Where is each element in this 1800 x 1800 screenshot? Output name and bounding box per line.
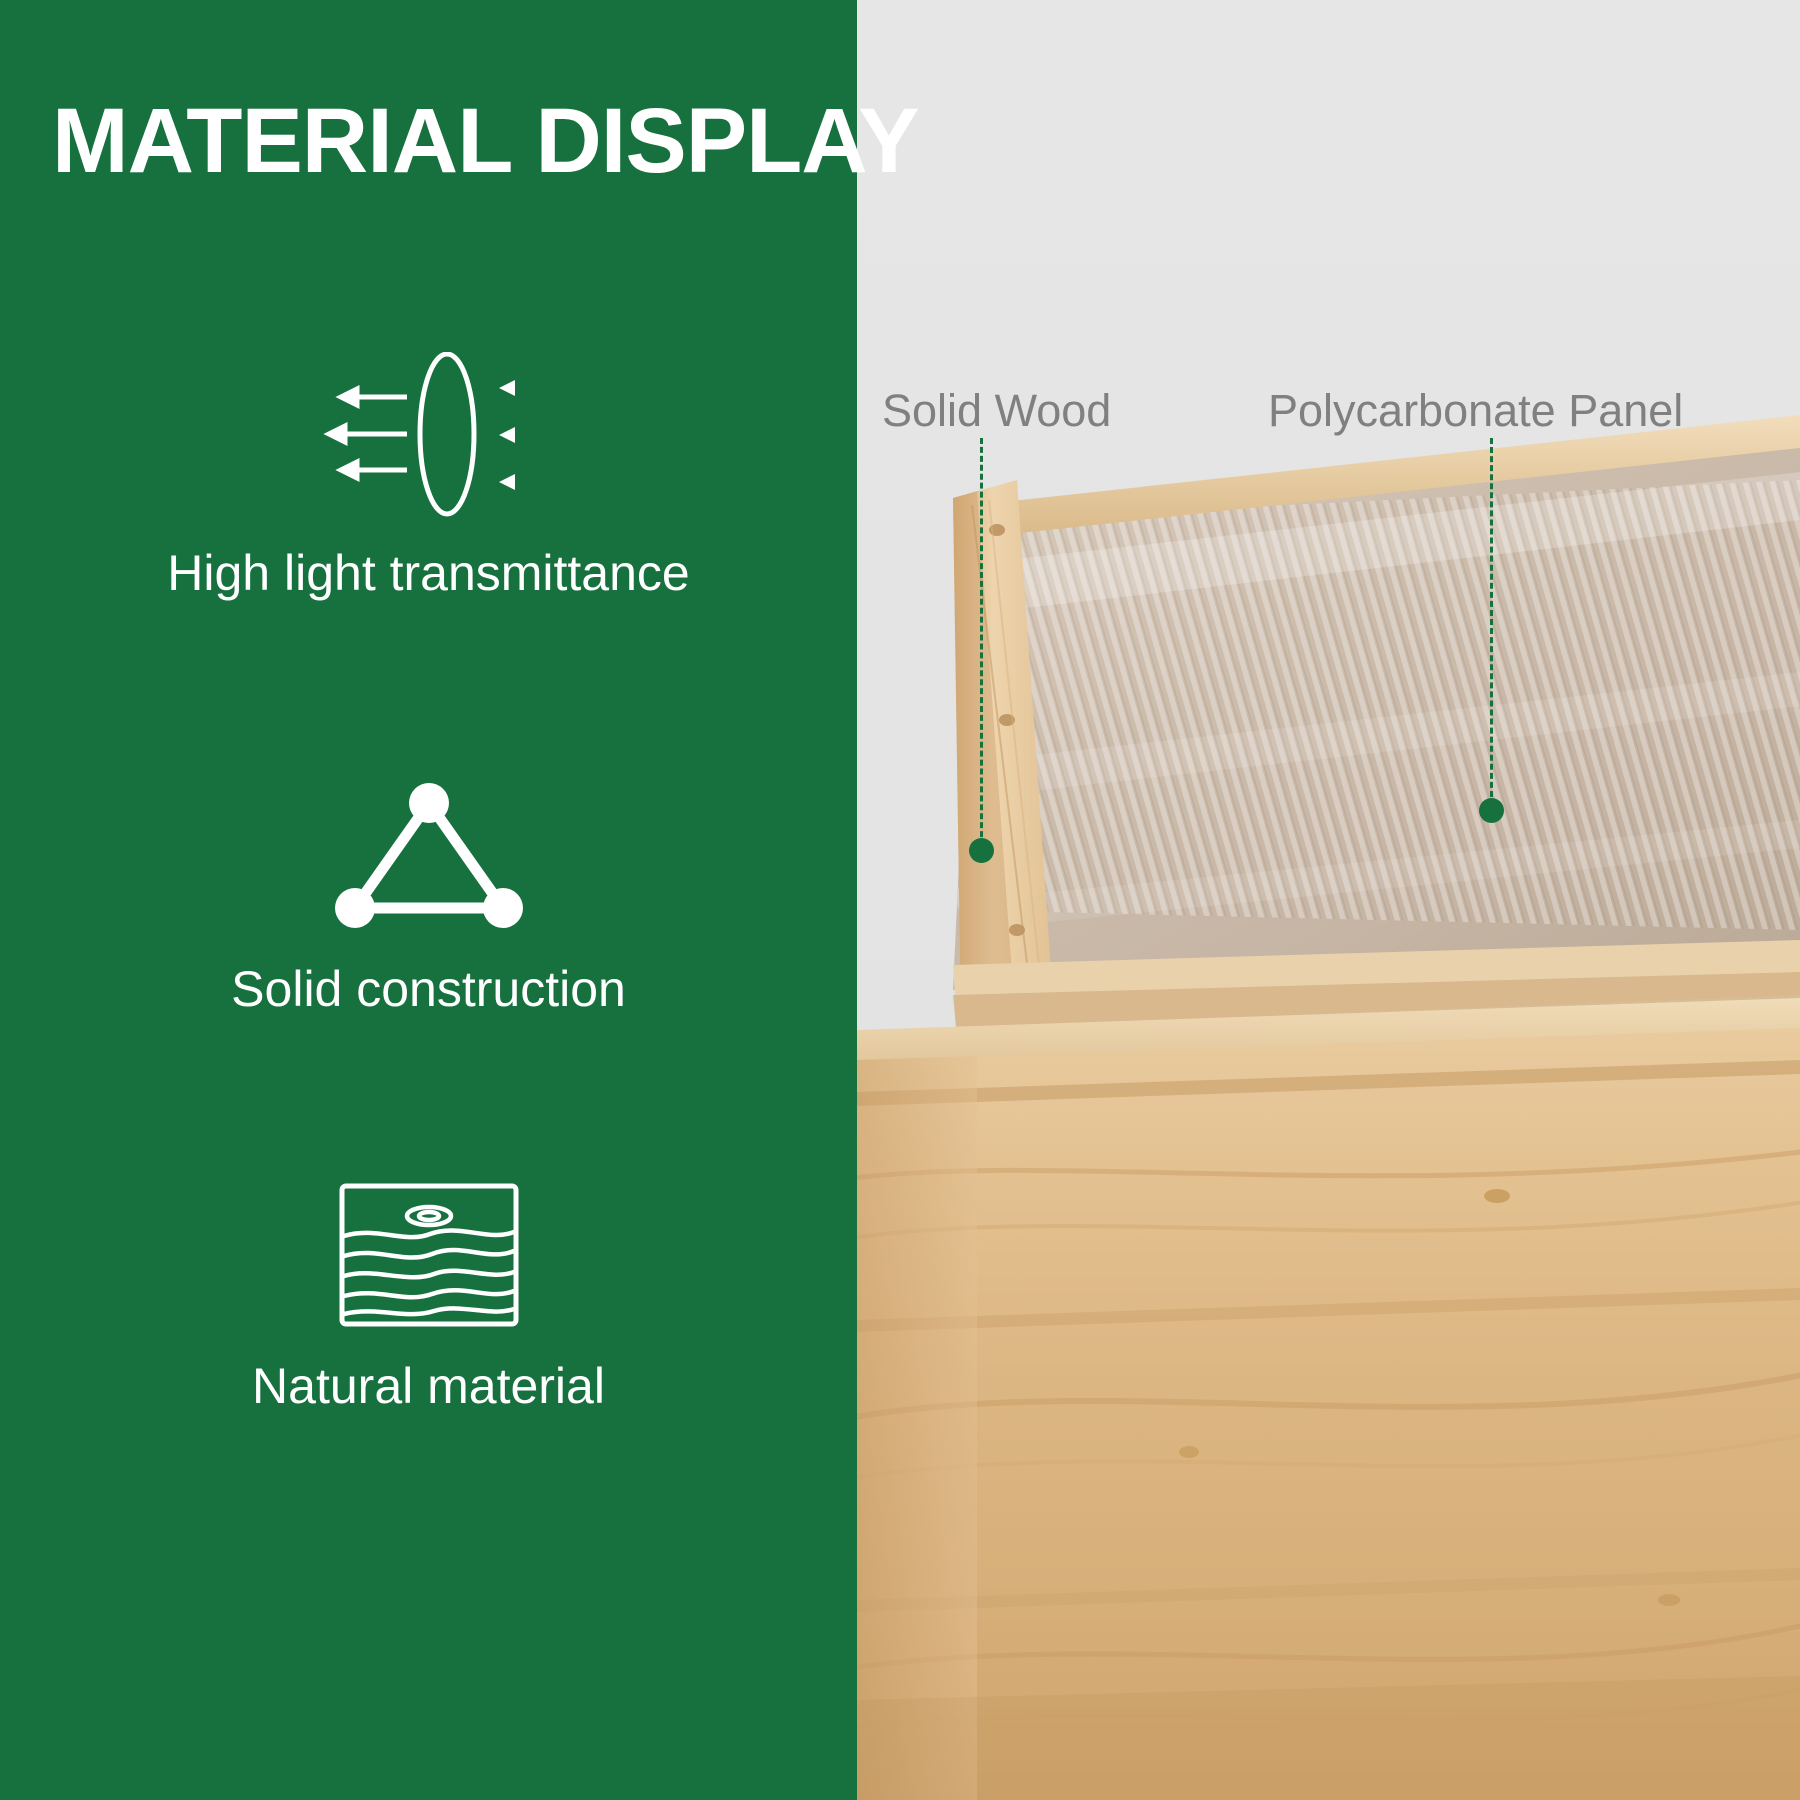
product-photo	[857, 0, 1800, 1800]
feature-item-solid-construction: Solid construction	[0, 768, 857, 1019]
leader-dashed-line	[1490, 438, 1493, 806]
triangle-structure-icon	[0, 768, 857, 933]
feature-item-high-light-transmittance: High light transmittance	[0, 352, 857, 603]
leader-dashed-line	[980, 438, 983, 846]
light-transmittance-icon	[0, 352, 857, 517]
feature-item-natural-material: Natural material	[0, 1180, 857, 1416]
feature-label: High light transmittance	[0, 545, 857, 603]
callout-dot	[969, 838, 994, 863]
marketing-image: MATERIAL DISPLAY	[0, 0, 1800, 1800]
feature-label: Solid construction	[0, 961, 857, 1019]
cold-frame-greenhouse-illustration	[857, 0, 1800, 1800]
callout-dot	[1479, 798, 1504, 823]
feature-label: Natural material	[0, 1358, 857, 1416]
box-body	[857, 998, 1800, 1800]
annotation-label-polycarbonate-panel: Polycarbonate Panel	[1268, 385, 1683, 437]
annotation-label-solid-wood: Solid Wood	[882, 385, 1111, 437]
wood-grain-icon	[0, 1180, 857, 1330]
page-title: MATERIAL DISPLAY	[52, 95, 919, 187]
